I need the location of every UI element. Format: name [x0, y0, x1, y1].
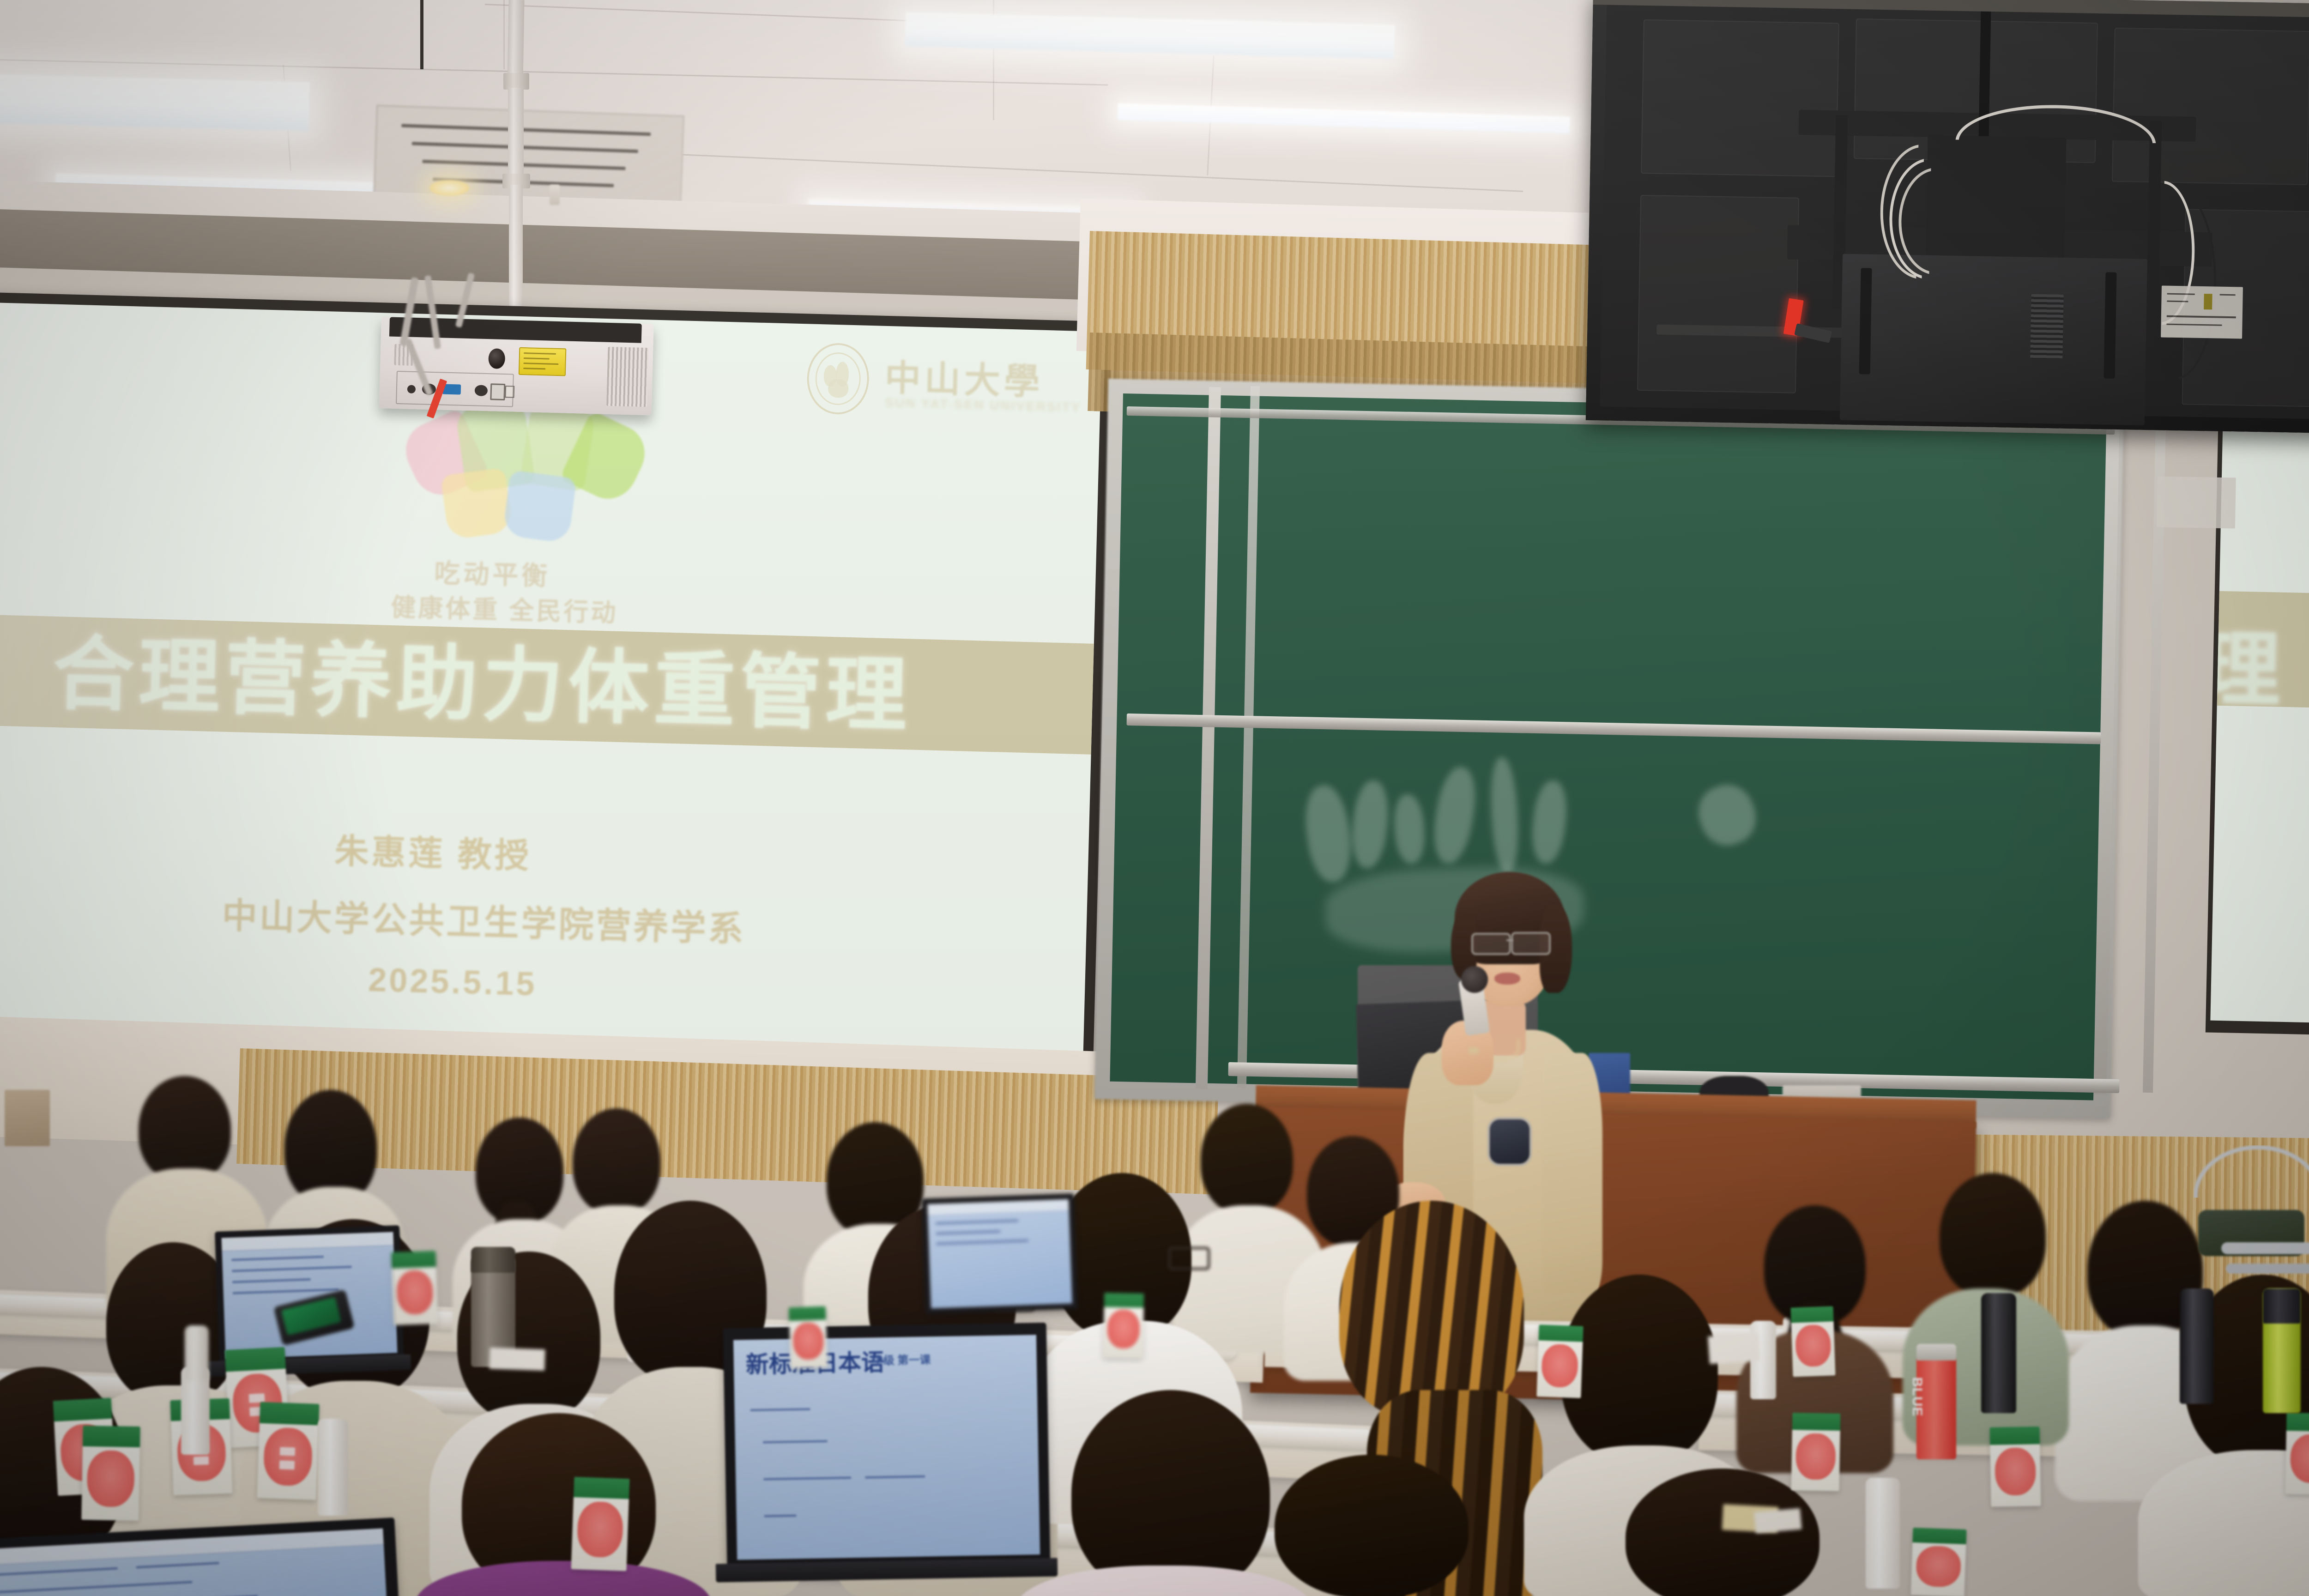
paper-sheet — [489, 1348, 545, 1371]
smartwatch — [1490, 1119, 1529, 1164]
chrome-chair-frame — [2226, 1263, 2309, 1274]
juice-carton — [1791, 1413, 1841, 1491]
thermos-lid — [2263, 1288, 2301, 1324]
display-vesa-plate — [1926, 135, 2066, 258]
sprinkler-head — [550, 185, 560, 205]
thermos — [1981, 1293, 2016, 1413]
projector-mount-pole — [508, 88, 524, 175]
presenter-glasses — [1471, 933, 1511, 955]
drink-can-label: BLUE — [1909, 1377, 1925, 1417]
projector-mount-pole — [509, 185, 523, 323]
student-head — [1626, 1469, 1819, 1596]
juice-carton — [2285, 1413, 2309, 1495]
juice-carton — [1790, 1306, 1835, 1377]
student-head — [1339, 1201, 1524, 1418]
presenter-sleeve — [1542, 1053, 1602, 1293]
student-head — [1201, 1104, 1293, 1215]
student-head — [139, 1076, 231, 1182]
thermos — [2180, 1288, 2214, 1404]
student-head — [573, 1108, 660, 1215]
paper-sheet — [1754, 1508, 1802, 1534]
presenter-mouth — [1494, 973, 1520, 985]
screen-glare — [0, 302, 1102, 1052]
water-bottle — [318, 1419, 348, 1516]
paper-sheet — [1708, 1333, 1760, 1364]
laptop-app-subtitle: 中级 第一课 — [872, 1350, 931, 1367]
recessed-downlight — [429, 180, 469, 196]
lecture-hall-photo: 吃动平衡 健康体重 全民行动 2025 全民营养周 中山大學 SUN YAT-S… — [0, 0, 2309, 1596]
chrome-chair-frame — [2221, 1242, 2309, 1254]
projection-screen: 吃动平衡 健康体重 全民行动 2025 全民营养周 中山大學 SUN YAT-S… — [0, 302, 1102, 1052]
thermos-lid — [471, 1247, 515, 1273]
ceiling-wire — [420, 0, 423, 69]
display-back-panel — [1600, 0, 2309, 420]
side-slide-title-fragment: 理 — [2210, 603, 2286, 722]
presenter-glasses — [1511, 932, 1551, 955]
student-head — [1275, 1455, 1469, 1596]
student-head — [1561, 1275, 1718, 1464]
juice-carton — [1990, 1427, 2041, 1507]
student-laptop[interactable] — [922, 1193, 1078, 1314]
display-spec-label — [2161, 285, 2243, 339]
display-media-box — [1840, 254, 2147, 425]
water-bottle — [1866, 1478, 1900, 1589]
presenter-ring — [1469, 1047, 1479, 1054]
laser-warning-label — [519, 347, 567, 376]
wall-panel — [5, 1090, 50, 1146]
student-laptop[interactable] — [215, 1225, 404, 1366]
student-head — [1940, 1173, 2046, 1298]
blackboard — [1110, 393, 2106, 1100]
juice-carton — [789, 1306, 828, 1369]
ceiling-display — [1586, 0, 2309, 434]
water-bottle — [185, 1325, 209, 1381]
juice-carton — [1910, 1528, 1966, 1596]
student-laptop[interactable]: 新标准日本语 中级 第一课 — [723, 1323, 1051, 1568]
juice-carton — [257, 1402, 319, 1500]
juice-carton — [1103, 1293, 1144, 1358]
ceiling-tile-line — [503, 0, 505, 69]
projector-mount-collar — [503, 73, 529, 90]
drink-can-lid — [1916, 1344, 1956, 1360]
juice-carton — [81, 1426, 140, 1521]
juice-carton — [1536, 1324, 1583, 1398]
drink-can: BLUE — [1916, 1358, 1956, 1459]
projector-lens — [488, 348, 505, 369]
projector-vent — [606, 347, 648, 407]
juice-carton — [391, 1251, 438, 1325]
display-spec-label — [2157, 476, 2236, 528]
presenter-glasses-bridge — [1506, 939, 1513, 941]
ceiling-light-panel — [0, 73, 310, 131]
projector-mount-pole — [507, 0, 524, 83]
juice-carton — [571, 1477, 630, 1571]
student-glasses — [1168, 1247, 1210, 1270]
